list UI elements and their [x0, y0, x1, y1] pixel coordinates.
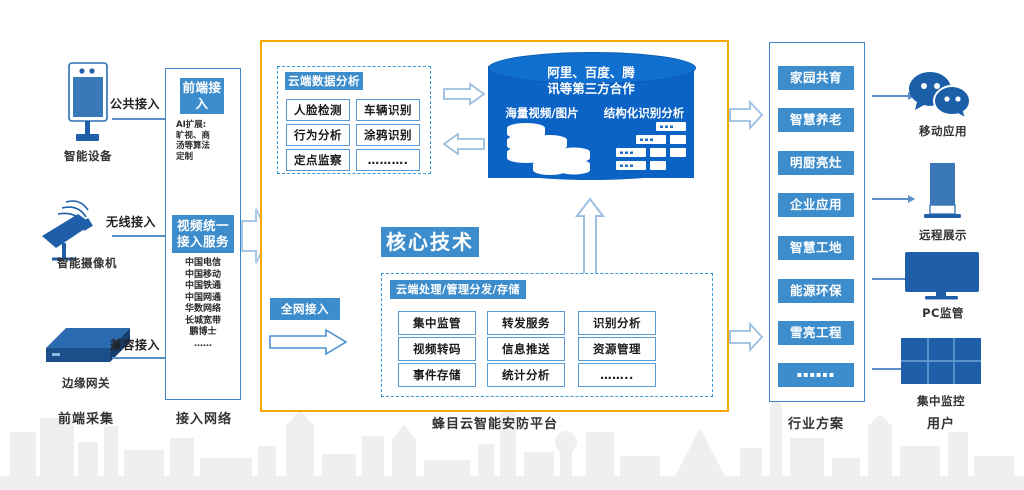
badge-video-access-service[interactable]: 视频统一 接入服务: [172, 215, 234, 253]
badge-full-network-access-label: 全网接入: [281, 301, 329, 317]
core-tech-item[interactable]: 识别分析: [578, 311, 656, 335]
badge-cloud-analysis[interactable]: 云端数据分析: [285, 72, 363, 90]
cloud-analysis-item[interactable]: ……….: [356, 149, 420, 171]
device-label-1: 智能摄像机: [32, 255, 142, 271]
core-tech-item-label: ……..: [600, 368, 634, 382]
badge-frontend-access-label: 前端接入: [180, 80, 224, 112]
badge-cloud-processing[interactable]: 云端处理/管理分发/存储: [390, 280, 526, 299]
carrier-item: 华数网络: [172, 304, 234, 316]
frontend-ai-note-line-2: 汤等算法: [176, 141, 230, 152]
flow-label-wireless-access: 无线接入: [92, 213, 170, 230]
flow-label-compatible-access: 兼容接入: [96, 336, 174, 353]
arrow-core-to-cloud: [575, 196, 605, 278]
column-caption-capture: 前端采集: [26, 408, 146, 427]
badge-video-line1: 视频统一: [177, 218, 229, 234]
industry-panel: [769, 42, 865, 402]
badge-core-technology[interactable]: 核心技术: [381, 227, 479, 257]
column-caption-access-network: 接入网络: [152, 408, 256, 427]
core-tech-item-label: 事件存储: [413, 367, 461, 383]
industry-item-label: 雪亮工程: [790, 325, 842, 341]
cloud-analysis-item-label: ……….: [368, 153, 409, 167]
cloud-analysis-item[interactable]: 涂鸦识别: [356, 124, 420, 146]
frontend-ai-note-line-1: 旷视、商: [176, 131, 230, 142]
industry-item-label: ▪▪▪▪▪▪: [797, 367, 836, 383]
flow-label-public-access: 公共接入: [96, 95, 174, 112]
desktop-monitor-icon: [903, 252, 981, 302]
user-label-2: PC监管: [898, 305, 988, 321]
carrier-item: ……: [172, 339, 234, 351]
cloud-analysis-item-label: 车辆识别: [364, 102, 412, 118]
user-label-3: 集中监控: [896, 393, 986, 409]
server-racks-icon: [600, 122, 690, 178]
cloud-analysis-item[interactable]: 人脸检测: [286, 99, 350, 121]
arrow-platform-to-industry-top: [728, 100, 764, 130]
industry-item[interactable]: 智慧工地: [778, 236, 854, 260]
badge-frontend-access[interactable]: 前端接入: [180, 78, 224, 114]
kiosk-display-icon: [918, 163, 966, 223]
column-caption-platform: 蜂目云智能安防平台: [380, 413, 610, 432]
industry-item[interactable]: 能源环保: [778, 279, 854, 303]
column-caption-industry: 行业方案: [769, 413, 863, 432]
core-tech-item-label: 识别分析: [593, 315, 641, 331]
core-tech-item-label: 集中监管: [413, 315, 461, 331]
industry-item[interactable]: 智慧养老: [778, 108, 854, 132]
core-tech-item-label: 统计分析: [502, 367, 550, 383]
badge-cloud-analysis-label: 云端数据分析: [288, 73, 360, 89]
cloud-analysis-item-label: 行为分析: [294, 127, 342, 143]
carrier-item: 中国电信: [172, 258, 234, 270]
core-tech-item[interactable]: 事件存储: [398, 363, 476, 387]
industry-item[interactable]: 雪亮工程: [778, 321, 854, 345]
industry-item-label: 智慧养老: [790, 112, 842, 128]
cloud-right-label: 结构化识别分析: [592, 105, 696, 121]
core-tech-item-label: 转发服务: [502, 315, 550, 331]
industry-item-label: 能源环保: [790, 283, 842, 299]
core-tech-item[interactable]: 集中监管: [398, 311, 476, 335]
cloud-analysis-item[interactable]: 车辆识别: [356, 99, 420, 121]
industry-item[interactable]: 明厨亮灶: [778, 151, 854, 175]
badge-full-network-access[interactable]: 全网接入: [270, 298, 340, 320]
badge-cloud-processing-label: 云端处理/管理分发/存储: [396, 282, 520, 298]
core-tech-item[interactable]: ……..: [578, 363, 656, 387]
user-label-1: 远程展示: [898, 227, 988, 243]
cloud-analysis-item-label: 定点监察: [294, 152, 342, 168]
database-disks-icon: [498, 120, 594, 178]
user-icon-video-wall: [900, 337, 982, 387]
device-label-0: 智能设备: [38, 148, 138, 164]
cloud-analysis-item[interactable]: 行为分析: [286, 124, 350, 146]
core-tech-item[interactable]: 信息推送: [487, 337, 565, 361]
core-tech-item-label: 视频转码: [413, 341, 461, 357]
cloud-analysis-item-label: 涂鸦识别: [364, 127, 412, 143]
core-tech-item[interactable]: 统计分析: [487, 363, 565, 387]
core-tech-item-label: 资源管理: [593, 341, 641, 357]
carrier-item: 中国网通: [172, 293, 234, 305]
arrow-industry-to-user-1: [872, 198, 914, 200]
industry-item-label: 企业应用: [790, 197, 842, 213]
column-caption-users: 用户: [896, 413, 986, 432]
frontend-ai-note: AI扩展: 旷视、商 汤等算法 定制: [176, 120, 230, 162]
carrier-item: 中国移动: [172, 270, 234, 282]
user-icon-pc: [903, 252, 981, 302]
user-icon-kiosk: [918, 163, 966, 223]
cloud-analysis-item[interactable]: 定点监察: [286, 149, 350, 171]
industry-item-label: 明厨亮灶: [790, 155, 842, 171]
industry-item-more[interactable]: ▪▪▪▪▪▪: [778, 363, 854, 387]
core-tech-item-label: 信息推送: [502, 341, 550, 357]
cloud-left-label: 海量视频/图片: [490, 105, 594, 121]
industry-item-label: 智慧工地: [790, 240, 842, 256]
frontend-ai-note-line-3: 定制: [176, 152, 230, 163]
carrier-item: 鹏博士: [172, 327, 234, 339]
badge-core-technology-label: 核心技术: [386, 234, 474, 250]
core-tech-item[interactable]: 资源管理: [578, 337, 656, 361]
industry-item[interactable]: 企业应用: [778, 193, 854, 217]
carrier-item: 长城宽带: [172, 316, 234, 328]
carrier-item: 中国铁通: [172, 281, 234, 293]
core-tech-item[interactable]: 视频转码: [398, 337, 476, 361]
architecture-diagram: 智能设备 公共接入 智能摄像机 无线接入 边缘网关 兼容接入 前端采集 前端接入: [0, 0, 1024, 490]
arrow-cloud-to-analysis: [442, 132, 486, 156]
user-label-0: 移动应用: [898, 123, 988, 139]
arrow-platform-to-industry-bottom: [728, 322, 764, 352]
device-label-2: 边缘网关: [36, 375, 136, 391]
badge-video-line2: 接入服务: [177, 234, 229, 250]
industry-item-label: 家园共育: [790, 70, 842, 86]
arrow-full-network: [268, 328, 348, 356]
arrow-analysis-to-cloud: [442, 82, 486, 106]
carrier-list: 中国电信 中国移动 中国铁通 中国网通 华数网络 长城宽带 鹏博士 ……: [172, 258, 234, 350]
cloud-analysis-item-label: 人脸检测: [294, 102, 342, 118]
wechat-bubbles-icon: [908, 70, 974, 118]
user-icon-mobile: [908, 70, 974, 118]
video-wall-icon: [900, 337, 982, 387]
core-tech-item[interactable]: 转发服务: [487, 311, 565, 335]
industry-item[interactable]: 家园共育: [778, 66, 854, 90]
cloud-partners-line2: 讯等第三方合作: [508, 78, 674, 97]
frontend-ai-note-line-0: AI扩展:: [176, 120, 230, 131]
